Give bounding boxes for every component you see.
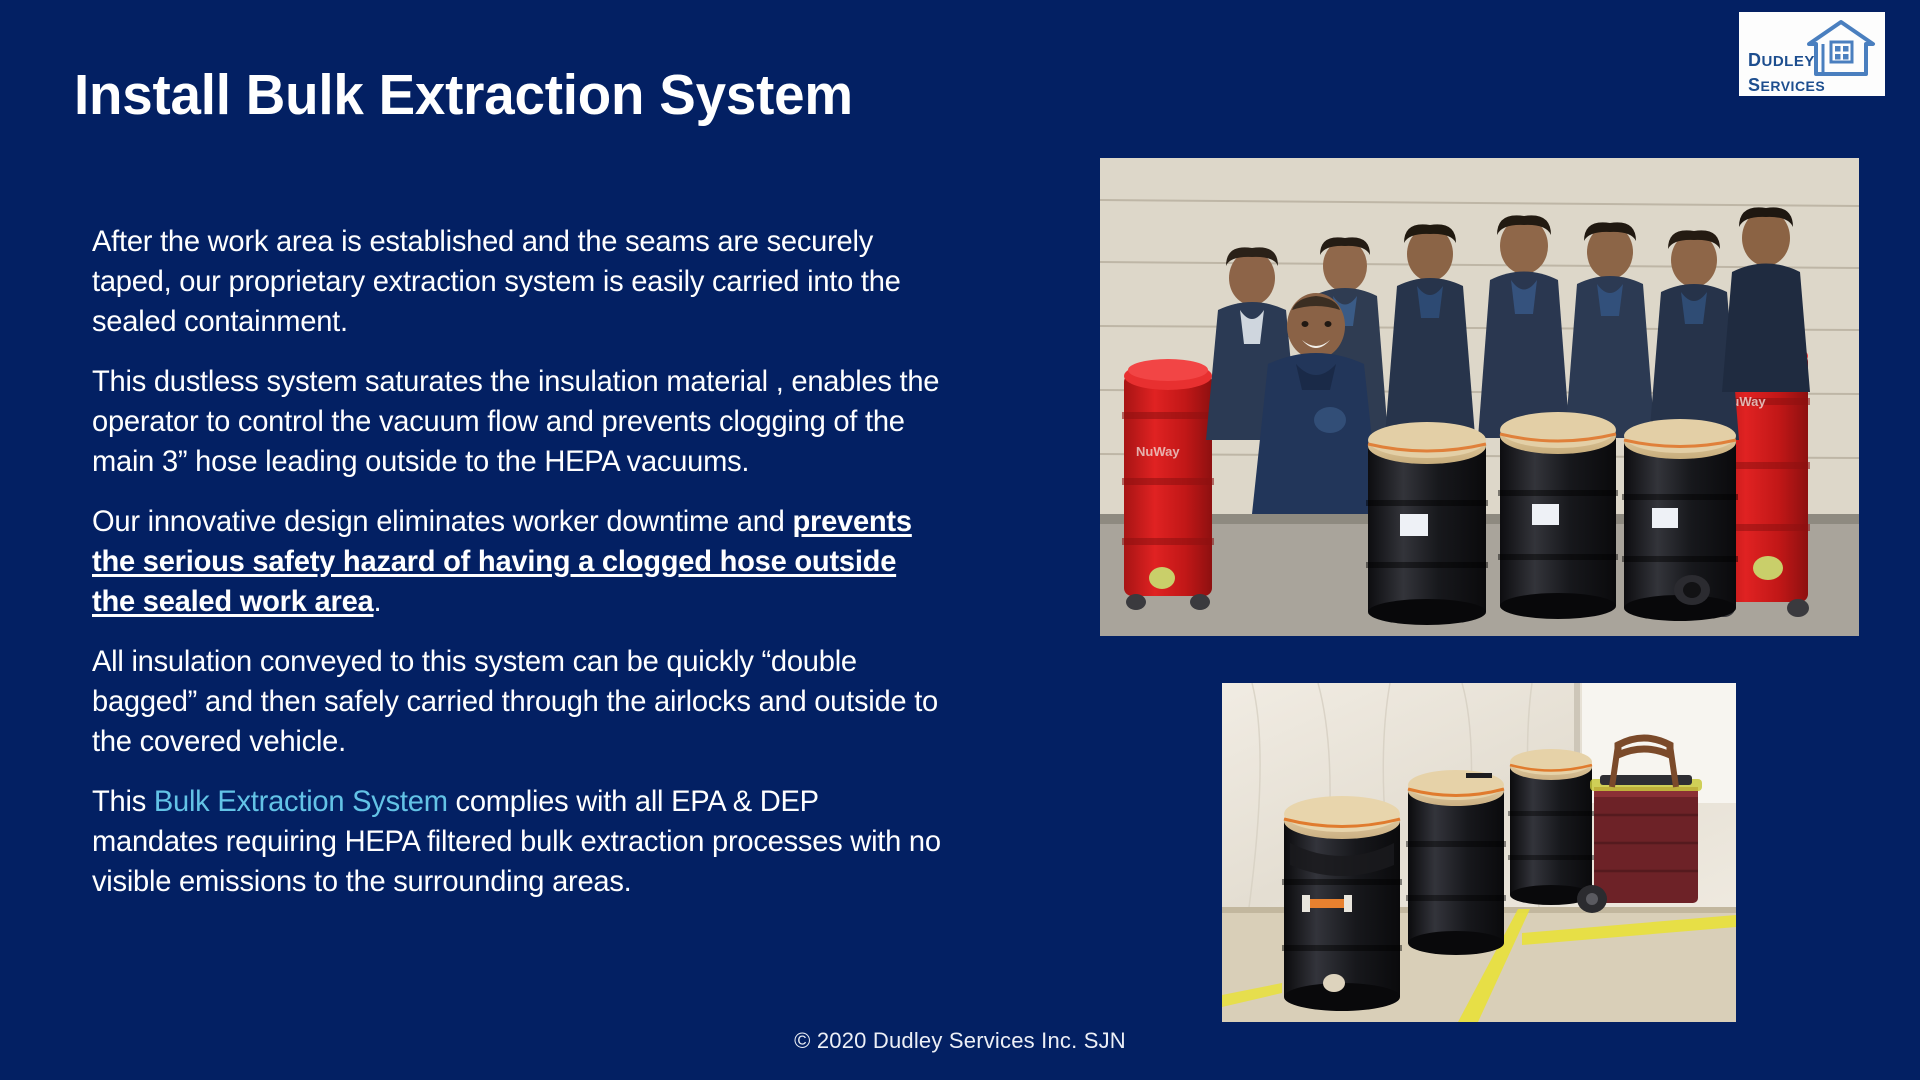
- logo-line-dudley: Dudley: [1748, 46, 1868, 71]
- sealed-drums-photo: [1222, 683, 1736, 1022]
- team-photo-with-extraction-equipment: NuWay NuWay: [1100, 158, 1859, 636]
- dudley-services-logo: Dudley Services: [1739, 12, 1885, 96]
- text-run: All insulation conveyed to this system c…: [92, 645, 938, 758]
- paragraph-2: This dustless system saturates the insul…: [92, 362, 946, 482]
- paragraph-1: After the work area is established and t…: [92, 222, 946, 342]
- sealed-drums-illustration: [1222, 683, 1736, 1022]
- logo-line-services: Services: [1748, 71, 1868, 96]
- logo-wordmark: Dudley Services: [1748, 46, 1868, 95]
- copyright-footer: © 2020 Dudley Services Inc. SJN: [0, 1028, 1920, 1054]
- paragraph-4: All insulation conveyed to this system c…: [92, 642, 946, 762]
- text-run: .: [373, 585, 381, 618]
- text-run: This: [92, 785, 154, 818]
- paragraph-5: This Bulk Extraction System complies wit…: [92, 782, 946, 902]
- text-run-accent: Bulk Extraction System: [154, 785, 448, 818]
- slide: Dudley Services Install Bulk Extraction …: [0, 0, 1920, 1080]
- paragraph-3: Our innovative design eliminates worker …: [92, 502, 946, 622]
- svg-text:NuWay: NuWay: [1136, 444, 1180, 459]
- body-text-column: After the work area is established and t…: [92, 222, 972, 902]
- text-run: After the work area is established and t…: [92, 225, 901, 338]
- page-title: Install Bulk Extraction System: [74, 62, 853, 128]
- team-photo-illustration: NuWay NuWay: [1100, 158, 1859, 636]
- text-run: This dustless system saturates the insul…: [92, 365, 939, 478]
- text-run: Our innovative design eliminates worker …: [92, 505, 792, 538]
